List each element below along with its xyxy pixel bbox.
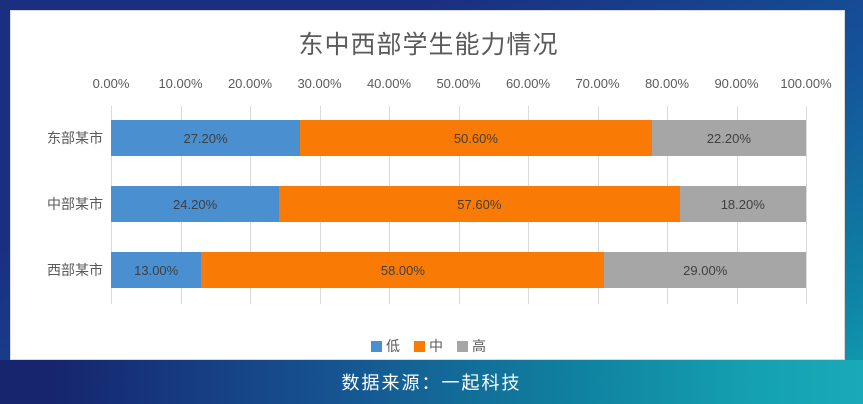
gridline — [806, 106, 807, 304]
legend-item[interactable]: 高 — [457, 336, 486, 356]
chart-legend: 低中高 — [11, 336, 846, 356]
x-axis-tick-labels: 0.00%10.00%20.00%30.00%40.00%50.00%60.00… — [111, 76, 806, 96]
bar-rows: 27.20%50.60%22.20%24.20%57.60%18.20%13.0… — [111, 106, 806, 304]
legend-swatch-icon — [457, 341, 468, 352]
legend-label: 中 — [429, 336, 443, 356]
y-axis-category-labels: 东部某市中部某市西部某市 — [11, 106, 103, 304]
bar-row[interactable]: 13.00%58.00%29.00% — [111, 252, 806, 288]
chart-card: 东中西部学生能力情况 0.00%10.00%20.00%30.00%40.00%… — [10, 10, 845, 360]
y-axis-label: 西部某市 — [11, 252, 103, 288]
slide-canvas: 东中西部学生能力情况 0.00%10.00%20.00%30.00%40.00%… — [0, 0, 863, 404]
plot-area: 27.20%50.60%22.20%24.20%57.60%18.20%13.0… — [111, 106, 806, 304]
bar-segment[interactable]: 58.00% — [201, 252, 604, 288]
bar-value-label: 58.00% — [381, 263, 425, 278]
x-tick-label: 80.00% — [645, 76, 689, 91]
legend-item[interactable]: 中 — [414, 336, 443, 356]
x-tick-label: 50.00% — [436, 76, 480, 91]
bar-value-label: 18.20% — [721, 197, 765, 212]
bar-value-label: 24.20% — [173, 197, 217, 212]
bar-value-label: 13.00% — [134, 263, 178, 278]
legend-label: 低 — [386, 336, 400, 356]
bar-segment[interactable]: 22.20% — [652, 120, 806, 156]
x-tick-label: 30.00% — [297, 76, 341, 91]
bar-value-label: 27.20% — [183, 131, 227, 146]
x-tick-label: 100.00% — [780, 76, 831, 91]
legend-label: 高 — [472, 336, 486, 356]
bar-value-label: 29.00% — [683, 263, 727, 278]
x-tick-label: 10.00% — [158, 76, 202, 91]
footer-source-text: 数据来源：一起科技 — [342, 369, 522, 395]
bar-value-label: 50.60% — [454, 131, 498, 146]
footer-banner: 数据来源：一起科技 — [0, 360, 863, 404]
y-axis-label: 东部某市 — [11, 120, 103, 156]
y-axis-label: 中部某市 — [11, 186, 103, 222]
x-tick-label: 90.00% — [714, 76, 758, 91]
bar-row[interactable]: 27.20%50.60%22.20% — [111, 120, 806, 156]
bar-segment[interactable]: 13.00% — [111, 252, 201, 288]
x-tick-label: 70.00% — [575, 76, 619, 91]
legend-item[interactable]: 低 — [371, 336, 400, 356]
chart-title: 东中西部学生能力情况 — [11, 25, 846, 61]
bar-segment[interactable]: 50.60% — [300, 120, 652, 156]
x-tick-label: 20.00% — [228, 76, 272, 91]
bar-segment[interactable]: 27.20% — [111, 120, 300, 156]
legend-swatch-icon — [414, 341, 425, 352]
bar-segment[interactable]: 24.20% — [111, 186, 279, 222]
x-tick-label: 40.00% — [367, 76, 411, 91]
bar-row[interactable]: 24.20%57.60%18.20% — [111, 186, 806, 222]
x-tick-label: 0.00% — [93, 76, 130, 91]
bar-value-label: 57.60% — [457, 197, 501, 212]
bar-segment[interactable]: 29.00% — [604, 252, 806, 288]
x-tick-label: 60.00% — [506, 76, 550, 91]
bar-segment[interactable]: 18.20% — [680, 186, 806, 222]
bar-value-label: 22.20% — [707, 131, 751, 146]
legend-swatch-icon — [371, 341, 382, 352]
bar-segment[interactable]: 57.60% — [279, 186, 679, 222]
